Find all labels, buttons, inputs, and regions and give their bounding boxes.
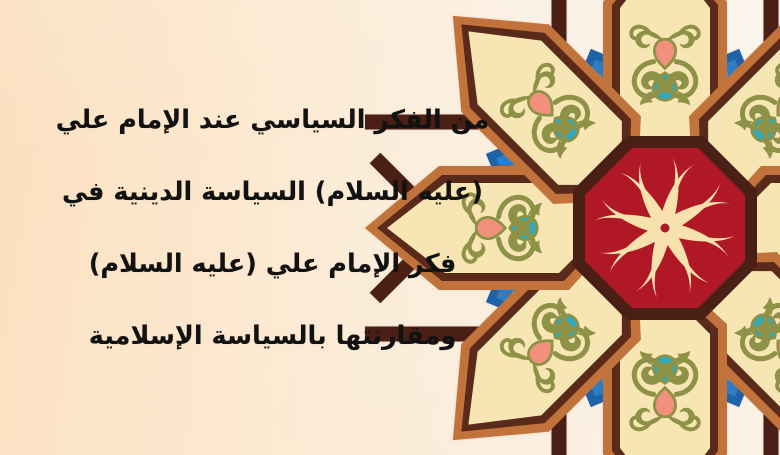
poster-canvas: من الفكر السياسي عند الإمام علي (عليه ال… (0, 0, 780, 455)
center-octagon (573, 136, 757, 320)
page-title: من الفكر السياسي عند الإمام علي (عليه ال… (0, 0, 545, 455)
title-line-2: (عليه السلام) السياسة الدينية في (62, 156, 483, 228)
title-line-1: من الفكر السياسي عند الإمام علي (56, 84, 490, 156)
title-line-4: ومقارنتها بالسياسة الإسلامية (89, 300, 456, 372)
title-line-3: فكر الإمام علي (عليه السلام) (89, 228, 457, 300)
